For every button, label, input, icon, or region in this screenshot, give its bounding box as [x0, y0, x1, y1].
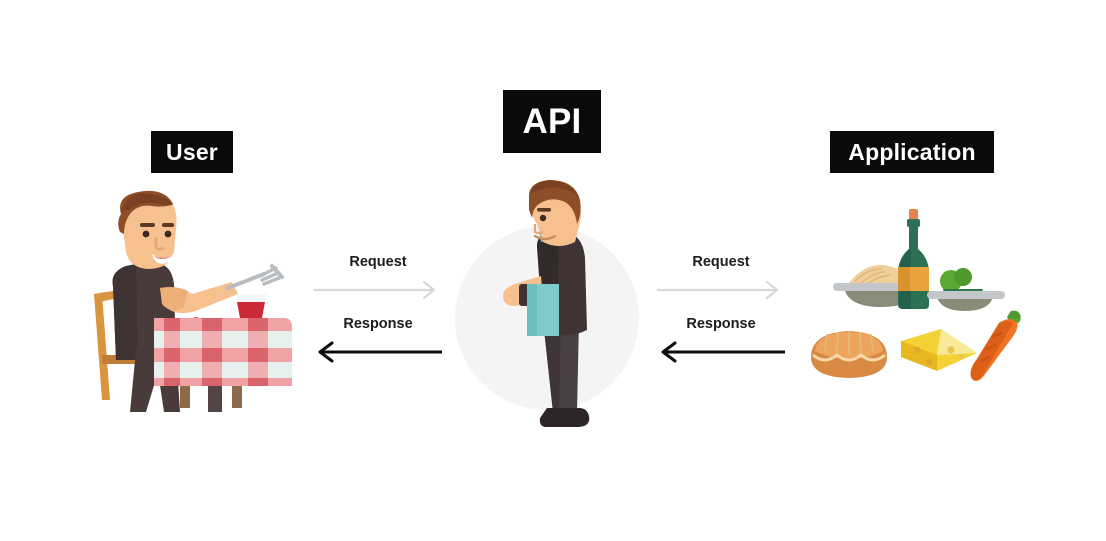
label-application: Application [830, 131, 994, 173]
diner-head [118, 191, 176, 269]
wine-bottle-icon [898, 209, 929, 309]
diagram-canvas: Request Response [0, 0, 1106, 541]
fork-icon [228, 266, 282, 288]
application-food-illustration [805, 205, 1030, 390]
waiter-head [529, 180, 581, 246]
response-label-left: Response [312, 317, 444, 332]
response-arrow-right [655, 341, 787, 363]
label-user: User [151, 131, 233, 173]
user-illustration [80, 190, 295, 415]
request-arrow-right [655, 279, 787, 301]
response-arrow-left [312, 341, 444, 363]
carrot-icon [971, 311, 1021, 381]
arrow-group-api-application: Request Response [655, 255, 787, 365]
broccoli-plate-icon [927, 268, 1005, 311]
request-arrow-left [312, 279, 444, 301]
label-api: API [503, 90, 601, 153]
waiter-shoe [540, 408, 589, 427]
cheese-wedge-icon [901, 329, 977, 371]
request-label-right: Request [655, 255, 787, 270]
api-waiter-illustration [455, 180, 650, 445]
response-label-right: Response [655, 317, 787, 332]
bread-pie-icon [811, 331, 887, 378]
request-label-left: Request [312, 255, 444, 270]
arrow-group-user-api: Request Response [312, 255, 444, 365]
